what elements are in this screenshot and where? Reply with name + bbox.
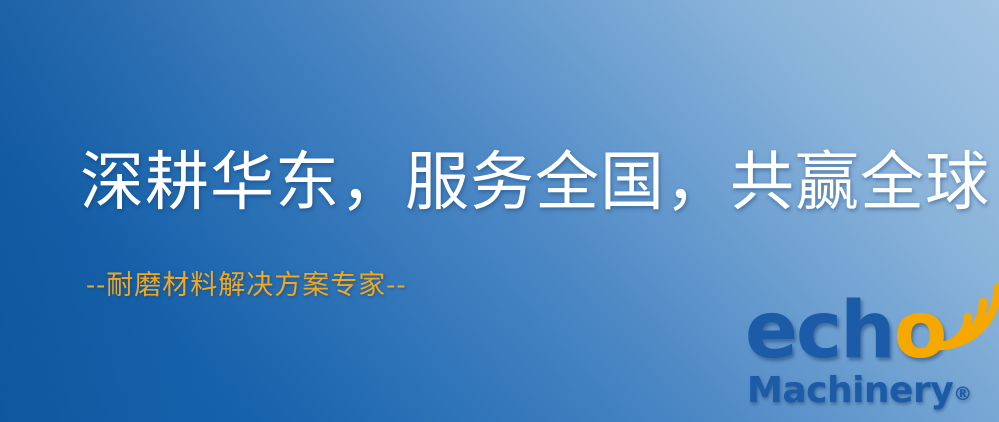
logo-wordmark: echo bbox=[745, 292, 945, 370]
banner-subtitle: --耐磨材料解决方案专家-- bbox=[86, 263, 407, 302]
registered-trademark-icon: ® bbox=[953, 383, 972, 405]
logo-tagline: Machinery® bbox=[747, 373, 972, 409]
logo-text-ech: ech bbox=[745, 286, 894, 376]
echo-machinery-logo: echo Machinery® bbox=[745, 292, 999, 422]
wifi-signal-arcs-icon bbox=[923, 290, 999, 364]
logo-tagline-text: Machinery bbox=[747, 370, 953, 411]
banner-headline: 深耕华东，服务全国，共赢全球 bbox=[80, 150, 990, 217]
promotional-banner: 深耕华东，服务全国，共赢全球 --耐磨材料解决方案专家-- echo Machi… bbox=[0, 0, 999, 422]
